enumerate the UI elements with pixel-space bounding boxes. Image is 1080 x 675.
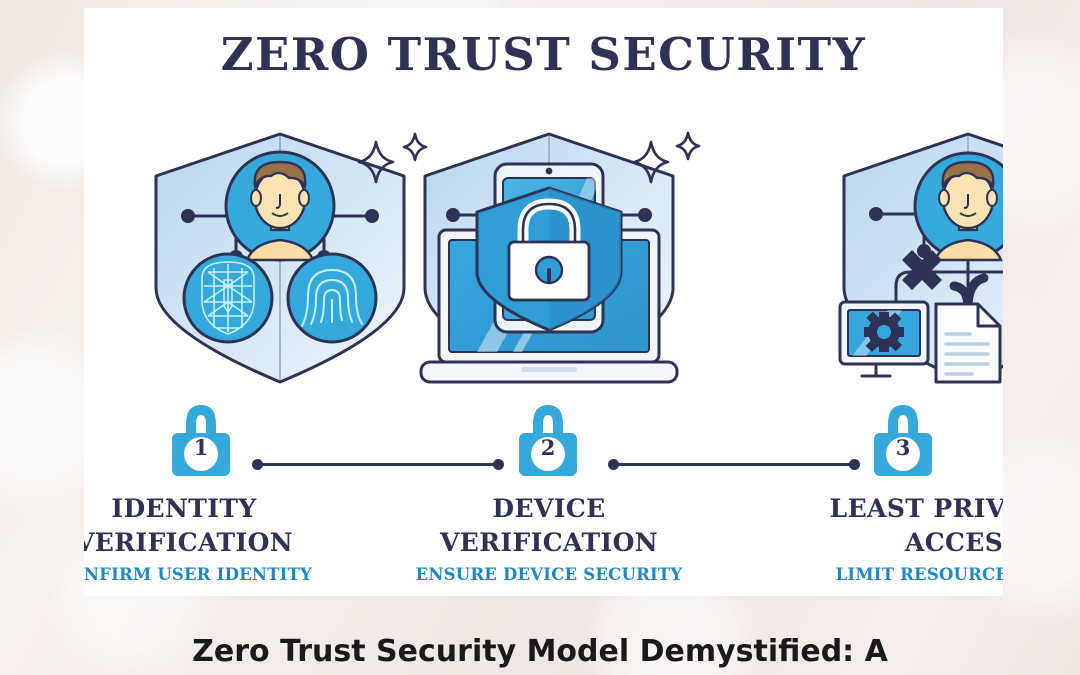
- caption-subtitle: ENSURE DEVICE SECURITY: [373, 565, 725, 584]
- step-number: 2: [511, 430, 585, 466]
- step-lock-1: 1: [164, 400, 238, 478]
- page-background: ZERO TRUST SECURITY: [0, 0, 1080, 675]
- step-captions: IDENTITY VERIFICATION CONFIRM USER IDENT…: [84, 492, 1003, 596]
- caption-step-1: IDENTITY VERIFICATION CONFIRM USER IDENT…: [84, 492, 360, 584]
- step-lock-2: 2: [511, 400, 585, 478]
- connector-dot-right: [849, 459, 860, 470]
- caption-title-line1: IDENTITY: [84, 492, 360, 526]
- infographic-card: ZERO TRUST SECURITY: [84, 8, 1003, 596]
- caption-title-line1: DEVICE: [373, 492, 725, 526]
- illustration-device: [373, 120, 725, 390]
- shield-user-resource-access-icon: [806, 120, 1003, 390]
- caption-step-2: DEVICE VERIFICATION ENSURE DEVICE SECURI…: [373, 492, 725, 584]
- step-lock-3: 3: [866, 400, 940, 478]
- connector-line: [257, 463, 499, 466]
- illustration-least-privilege: [806, 120, 1003, 390]
- caption-title-line2: VERIFICATION: [373, 526, 725, 560]
- step-indicator-row: 1 2: [84, 400, 1003, 480]
- caption-title-line1: LEAST PRIVILEGE: [787, 492, 1003, 526]
- caption-title-line2: VERIFICATION: [84, 526, 360, 560]
- caption-subtitle: CONFIRM USER IDENTITY: [84, 565, 360, 584]
- caption-subtitle: LIMIT RESOURCE ACCESS: [787, 565, 1003, 584]
- article-heading: Zero Trust Security Model Demystified: A: [0, 634, 1080, 669]
- connector-line: [613, 463, 855, 466]
- connector-dot-right: [493, 459, 504, 470]
- caption-step-3: LEAST PRIVILEGE ACCESS LIMIT RESOURCE AC…: [787, 492, 1003, 584]
- step-number: 3: [866, 430, 940, 466]
- step-number: 1: [164, 430, 238, 466]
- caption-title-line2: ACCESS: [787, 526, 1003, 560]
- step-connector-2-3: [608, 459, 860, 471]
- step-column-2: [373, 120, 725, 390]
- page-title: ZERO TRUST SECURITY: [84, 28, 1003, 81]
- shield-laptop-padlock-icon: [373, 120, 725, 390]
- step-connector-1-2: [252, 459, 504, 471]
- step-column-3: [806, 120, 1003, 390]
